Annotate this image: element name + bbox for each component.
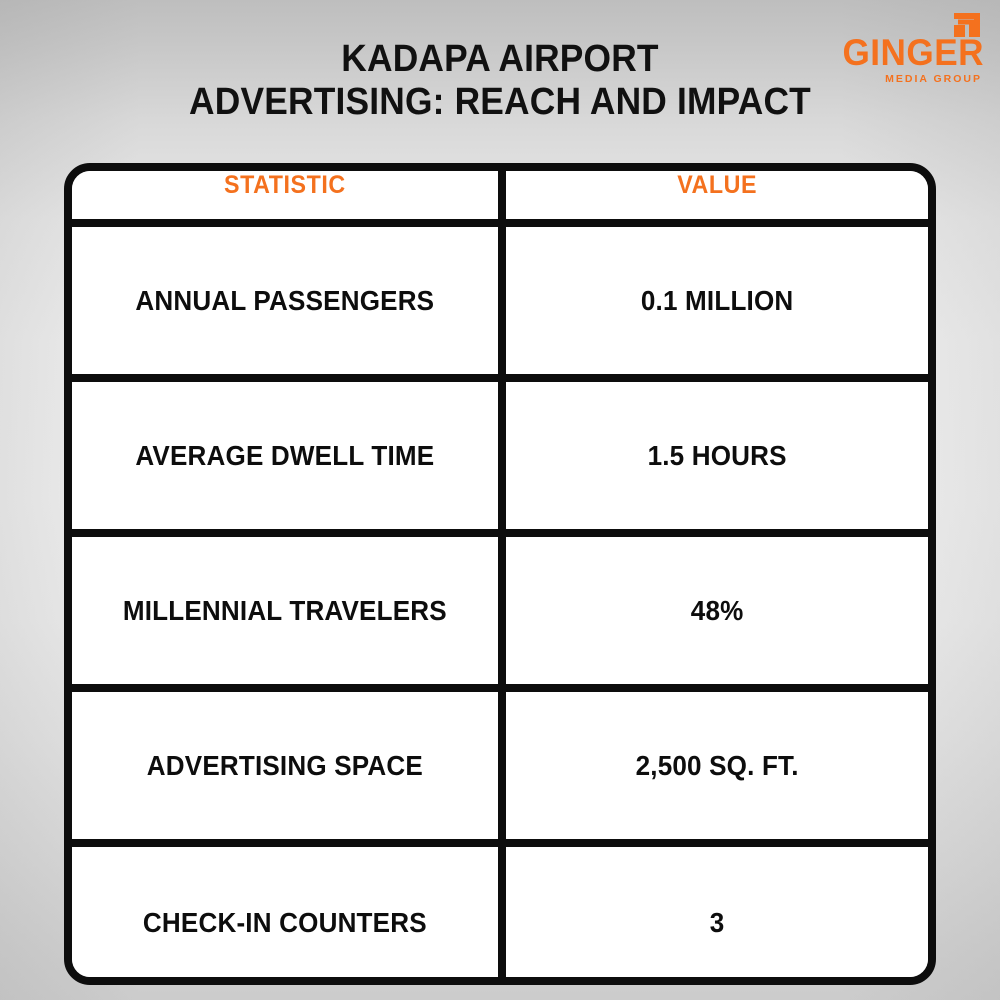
table-cell-statistic: ANNUAL PASSENGERS	[72, 223, 502, 378]
table-cell-value: 3	[502, 843, 928, 985]
row-2-value: 48%	[520, 595, 913, 627]
row-0-value: 0.1 MILLION	[520, 285, 913, 317]
page-title: KADAPA AIRPORT ADVERTISING: REACH AND IM…	[0, 38, 1000, 123]
table-cell-statistic: AVERAGE DWELL TIME	[72, 378, 502, 533]
row-3-value: 2,500 SQ. FT.	[520, 750, 913, 782]
table-row: AVERAGE DWELL TIME 1.5 HOURS	[72, 378, 928, 533]
row-1-value: 1.5 HOURS	[520, 440, 913, 472]
title-line-1: KADAPA AIRPORT	[35, 38, 965, 81]
statistics-table-container: STATISTIC VALUE ANNUAL PASSENGERS 0.1 MI…	[64, 163, 936, 985]
column-header-statistic: STATISTIC	[72, 171, 502, 223]
table-row: CHECK-IN COUNTERS 3	[72, 843, 928, 985]
table-row: MILLENNIAL TRAVELERS 48%	[72, 533, 928, 688]
row-3-statistic: ADVERTISING SPACE	[87, 750, 483, 782]
table-cell-value: 48%	[502, 533, 928, 688]
row-2-statistic: MILLENNIAL TRAVELERS	[87, 595, 483, 627]
title-line-2: ADVERTISING: REACH AND IMPACT	[35, 81, 965, 124]
table-row: ANNUAL PASSENGERS 0.1 MILLION	[72, 223, 928, 378]
table-header-row: STATISTIC VALUE	[72, 171, 928, 223]
row-4-value: 3	[520, 907, 913, 939]
table-cell-statistic: ADVERTISING SPACE	[72, 688, 502, 843]
table-cell-value: 0.1 MILLION	[502, 223, 928, 378]
column-header-statistic-label: STATISTIC	[87, 171, 483, 219]
statistics-table: STATISTIC VALUE ANNUAL PASSENGERS 0.1 MI…	[72, 171, 928, 985]
poster-canvas: GINGER MEDIA GROUP KADAPA AIRPORT ADVERT…	[0, 0, 1000, 1000]
column-header-value: VALUE	[502, 171, 928, 223]
row-1-statistic: AVERAGE DWELL TIME	[87, 440, 483, 472]
table-row: ADVERTISING SPACE 2,500 SQ. FT.	[72, 688, 928, 843]
table-cell-statistic: CHECK-IN COUNTERS	[72, 843, 502, 985]
row-4-statistic: CHECK-IN COUNTERS	[87, 907, 483, 939]
table-cell-statistic: MILLENNIAL TRAVELERS	[72, 533, 502, 688]
table-cell-value: 1.5 HOURS	[502, 378, 928, 533]
row-0-statistic: ANNUAL PASSENGERS	[87, 285, 483, 317]
column-header-value-label: VALUE	[520, 171, 913, 219]
table-cell-value: 2,500 SQ. FT.	[502, 688, 928, 843]
